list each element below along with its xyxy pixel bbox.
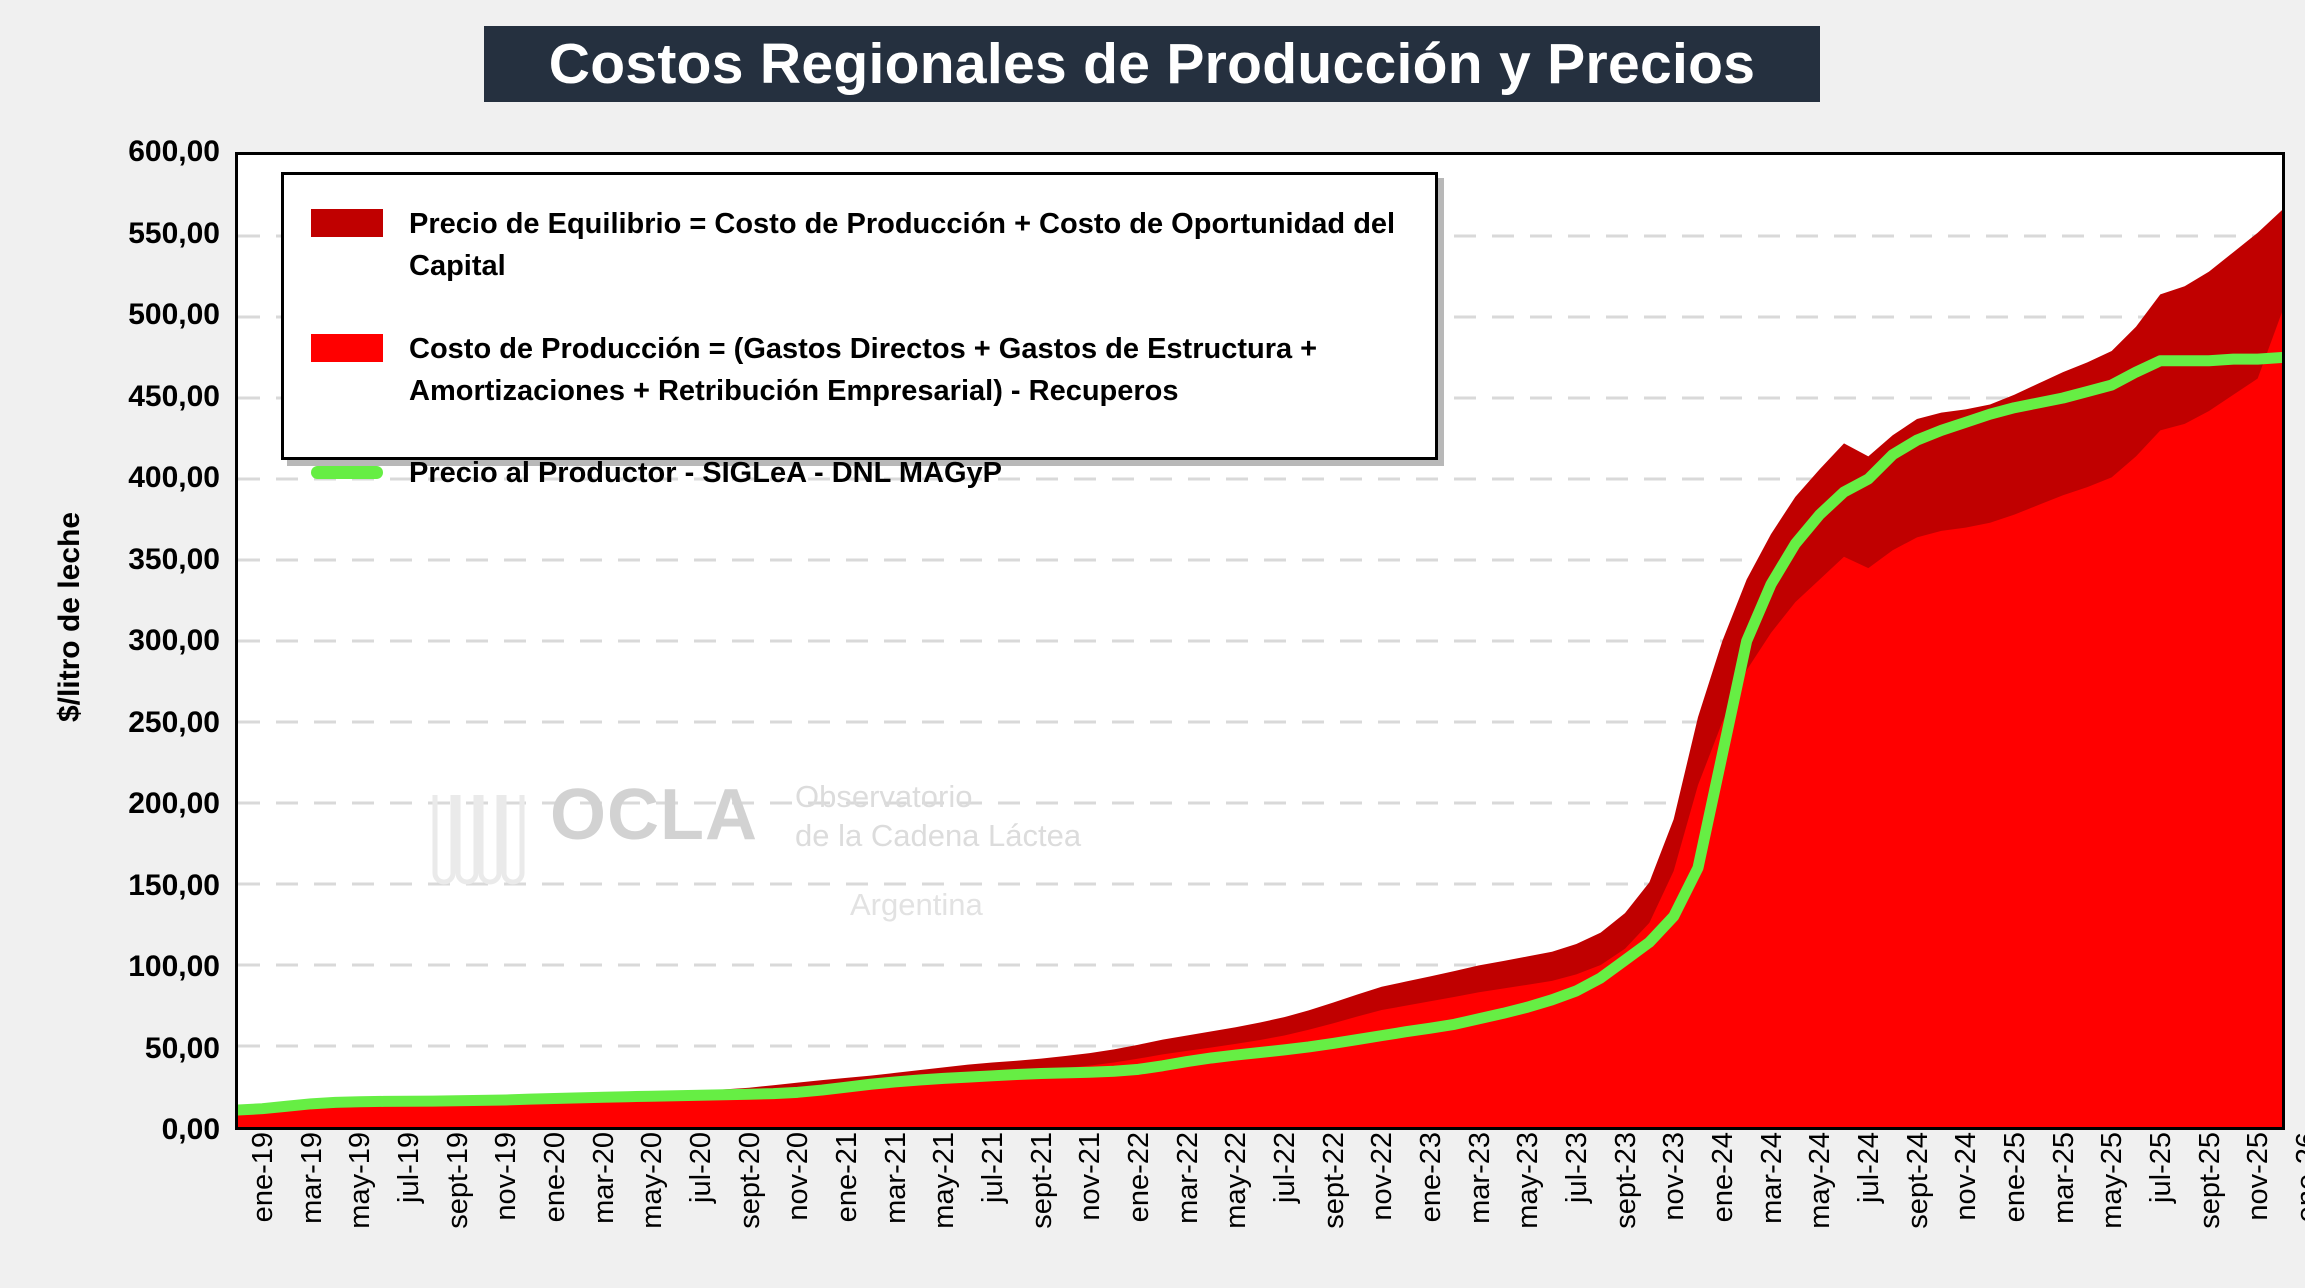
x-axis-tick-label: mar-20 [588,1132,621,1224]
x-axis-tick-labels: ene-19mar-19may-19jul-19sept-19nov-19ene… [235,1132,2285,1288]
legend-swatch-precio-productor [311,466,383,479]
x-axis-tick-label: jul-23 [1561,1132,1594,1203]
y-axis-tick-label: 250,00 [60,706,220,740]
x-axis-tick-label: sept-24 [1902,1132,1935,1229]
x-axis-tick-label: nov-23 [1658,1132,1691,1221]
y-axis-tick-label: 550,00 [60,217,220,251]
y-axis-tick-label: 400,00 [60,461,220,495]
x-axis-tick-label: jul-19 [393,1132,426,1203]
x-axis-tick-label: nov-20 [782,1132,815,1221]
y-axis-tick-label: 500,00 [60,298,220,332]
y-axis-tick-label: 0,00 [60,1113,220,1147]
x-axis-tick-label: sept-23 [1610,1132,1643,1229]
x-axis-tick-label: sept-20 [734,1132,767,1229]
x-axis-tick-label: may-21 [928,1132,961,1229]
y-axis-tick-label: 300,00 [60,624,220,658]
x-axis-tick-label: ene-20 [539,1132,572,1222]
x-axis-tick-label: ene-22 [1123,1132,1156,1222]
y-axis-tick-label: 100,00 [60,950,220,984]
x-axis-tick-label: mar-19 [296,1132,329,1224]
x-axis-tick-label: ene-26 [2291,1132,2305,1222]
y-axis-tick-label: 150,00 [60,869,220,903]
legend-label-precio-productor: Precio al Productor - SIGLeA - DNL MAGyP [409,452,1002,494]
chart-title-bar: Costos Regionales de Producción y Precio… [484,26,1820,102]
x-axis-tick-label: jul-24 [1853,1132,1886,1203]
x-axis-tick-label: may-19 [344,1132,377,1229]
x-axis-tick-label: mar-21 [880,1132,913,1224]
x-axis-tick-label: may-25 [2096,1132,2129,1229]
x-axis-tick-label: mar-22 [1172,1132,1205,1224]
y-axis-tick-label: 50,00 [60,1032,220,1066]
x-axis-tick-label: sept-19 [442,1132,475,1229]
legend-swatch-costo-produccion [311,334,383,362]
x-axis-tick-label: may-23 [1512,1132,1545,1229]
y-axis-tick-labels: 0,0050,00100,00150,00200,00250,00300,003… [60,0,220,1288]
x-axis-tick-label: ene-24 [1707,1132,1740,1222]
legend-item-precio-equilibrio[interactable]: Precio de Equilibrio = Costo de Producci… [311,203,1429,287]
x-axis-tick-label: nov-24 [1950,1132,1983,1221]
x-axis-tick-label: may-20 [636,1132,669,1229]
x-axis-tick-label: ene-23 [1415,1132,1448,1222]
x-axis-tick-label: ene-21 [831,1132,864,1222]
x-axis-tick-label: sept-21 [1026,1132,1059,1229]
x-axis-tick-label: nov-19 [490,1132,523,1221]
y-axis-tick-label: 350,00 [60,543,220,577]
legend-label-costo-produccion: Costo de Producción = (Gastos Directos +… [409,328,1429,412]
x-axis-tick-label: sept-25 [2194,1132,2227,1229]
legend-label-precio-equilibrio: Precio de Equilibrio = Costo de Producci… [409,203,1429,287]
x-axis-tick-label: nov-21 [1074,1132,1107,1221]
x-axis-tick-label: jul-20 [685,1132,718,1203]
legend-item-costo-produccion[interactable]: Costo de Producción = (Gastos Directos +… [311,328,1429,412]
x-axis-tick-label: mar-24 [1756,1132,1789,1224]
x-axis-tick-label: jul-21 [977,1132,1010,1203]
x-axis-tick-label: jul-25 [2145,1132,2178,1203]
y-axis-tick-label: 200,00 [60,787,220,821]
legend-item-precio-productor[interactable]: Precio al Productor - SIGLeA - DNL MAGyP [311,452,1002,494]
legend-swatch-precio-equilibrio [311,209,383,237]
x-axis-tick-label: ene-25 [1999,1132,2032,1222]
y-axis-tick-label: 450,00 [60,380,220,414]
x-axis-tick-label: ene-19 [247,1132,280,1222]
x-axis-tick-label: sept-22 [1318,1132,1351,1229]
y-axis-tick-label: 600,00 [60,135,220,169]
x-axis-tick-label: nov-25 [2242,1132,2275,1221]
page-title: Costos Regionales de Producción y Precio… [549,31,1755,97]
x-axis-tick-label: may-24 [1804,1132,1837,1229]
x-axis-tick-label: nov-22 [1366,1132,1399,1221]
x-axis-tick-label: jul-22 [1269,1132,1302,1203]
chart-legend: Precio de Equilibrio = Costo de Producci… [281,172,1438,460]
x-axis-tick-label: mar-23 [1464,1132,1497,1224]
x-axis-tick-label: may-22 [1220,1132,1253,1229]
x-axis-tick-label: mar-25 [2048,1132,2081,1224]
